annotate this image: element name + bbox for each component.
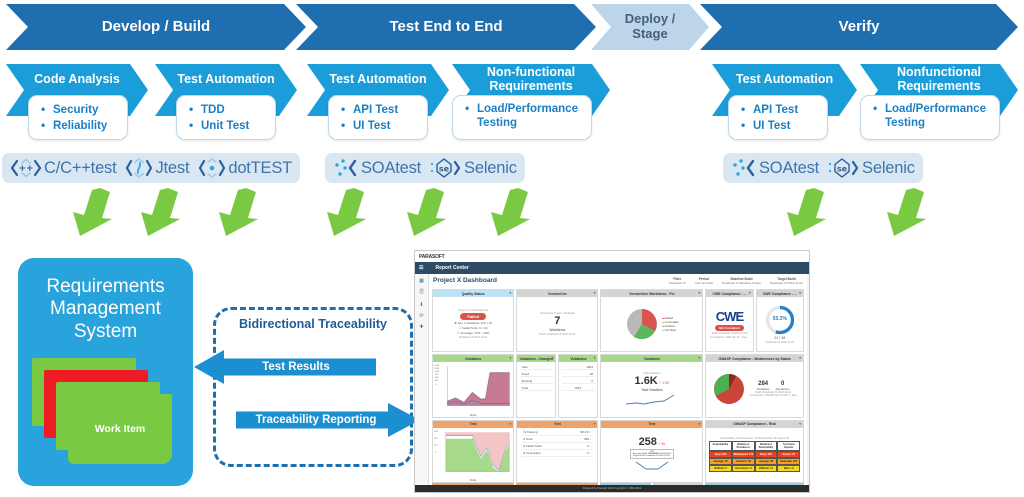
widget-title: VersionOne [548,292,567,296]
widget-title: Violations [644,357,660,361]
test-results-arrow[interactable]: Test Results [194,350,376,384]
widget-header: Violations ▾ [433,355,513,362]
table-row: % Passing 98.1% ↑ [521,430,593,436]
violations-trend-chart [435,364,511,414]
widget-header: VersionOne ▾ [517,290,597,297]
metric-value: 258 [639,437,657,448]
svg-text:se: se [439,165,450,174]
risk-header: Technical Impacts [777,441,800,451]
bullet-item: Load/Performance Testing [871,102,991,131]
status-badge: Failed [460,313,486,320]
pipeline-stage-test-end-to-end[interactable]: Test End to End [296,4,596,50]
pipeline-stage-label: Deploy /Stage [625,12,676,41]
widget-total-violations[interactable]: Violations ▾ Total Violations 1.6K ↑ 1.5… [600,354,703,417]
widget-header: CWE Compliance - ... ▾ [706,290,752,297]
metric-caption: Total Violations [641,388,662,392]
test-trend-chart [435,430,511,480]
owasp-risk-table: Exploitability Weakness Prevalence Weakn… [709,441,800,472]
widget-header: OWASP Compliance - Weaknesses by Status … [706,355,803,362]
widget-header: OWASP Compliance - Risk ▾ [706,421,803,428]
metric-value: 1.6K [635,376,658,387]
pipeline-stage-label: Verify [839,19,880,36]
chevron-bracket-j-icon [125,157,153,179]
bullet-item: Unit Test [187,118,267,134]
down-arrow-icon: ↓ [590,437,592,441]
pipeline-stage-deploy-stage[interactable]: Deploy /Stage [591,4,709,50]
meta-target-build: Target Build Parabank v5 2019-12-04 [770,277,803,285]
widget-body: Image 1: All (Parabank All) Failed ✖Sev.… [433,297,513,351]
product-name: SOAtest [759,159,819,178]
flow-arrow-7 [780,188,826,236]
risk-cell: Average: 48 [755,458,778,465]
svg-text:++: ++ [18,164,33,174]
down-left-arrow-icon [320,188,366,236]
widget-title: OWASP Compliance - Risk [733,422,776,426]
gauge-ratio: 21 / 38 [774,336,785,340]
product-name: SOAtest [361,159,421,178]
down-left-arrow-icon [484,188,530,236]
meta-filter: Filter Parabank v5 [669,277,686,285]
report-center-dashboard-screenshot[interactable]: PARASOFT ☰ Report Center ▦ 🗎 ⬇ ⟳ ✚ Proje… [414,250,810,493]
activity-title: Test Automation [155,72,297,86]
widget-header: Test ▾ [517,421,597,428]
legend-passed: ▬ Passed [662,325,679,328]
widget-violations-changed[interactable]: Violations - Changed ▾ New Fixed Existin… [516,354,556,417]
widget-title: Test [554,422,561,426]
dashboard-body: Project X Dashboard Filter Parabank v5 P… [429,274,807,485]
widget-owasp-weaknesses-by-status[interactable]: OWASP Compliance - Weaknesses by Status … [705,354,804,417]
metric-row: 1.6K ↑ 1.5K [635,376,670,387]
down-left-arrow-icon [880,188,926,236]
pipeline-stage-label: Develop / Build [102,19,210,36]
nav-title: Report Center [435,265,468,271]
widget-cwe-compliance-gauge[interactable]: CWE Compliance - ... ▾ 55.3% 21 / 38 Par… [756,289,804,352]
widget-footnote2: Compliance: CWE Top 25 - Cwe... [710,336,749,339]
test-sparkline [632,460,672,472]
widget-cwe-compliance-logo[interactable]: CWE Compliance - ... ▾ CWE Not Compliant… [705,289,753,352]
widget-menu-icon[interactable]: ▾ [509,422,511,426]
work-item-label: Work Item [95,423,146,435]
product-name: Jtest [155,159,189,178]
risk-cell: Difficult: 3 [709,465,732,472]
bidirectional-traceability-group: Bidirectional Traceability Test Results … [213,307,413,467]
dots-chevron-icon [731,157,757,179]
activity-title: Code Analysis [6,72,148,86]
activity-card-non-functional-requirements: Load/Performance Testing [452,95,592,140]
table-row: Fixed [520,371,553,377]
widget-title: Test [470,422,477,426]
widget-menu-icon[interactable]: ▾ [699,291,701,295]
versionone-pie-chart [625,307,659,341]
parasoft-logo: PARASOFT [419,254,445,260]
table-row: Total [520,385,553,391]
bullet-item: Reliability [39,118,119,134]
widget-body: % Passing 98.1% ↑ # Tests 258 ↓ # Failed… [517,428,597,482]
product-logo-strip-test: SOAtest se Selenic [325,153,525,183]
quality-line-3: ✔Coverage: 47% > 20% [457,331,489,335]
table-row: # Tests 258 ↓ [521,437,593,443]
pipeline-stage-label: Test End to End [389,19,502,36]
widget-grid: Quality Status ▾ Image 1: All (Parabank … [432,289,804,483]
traceability-reporting-arrow[interactable]: Traceability Reporting [236,403,420,437]
flow-arrow-4 [320,188,366,236]
metric-value: 7 [554,316,560,327]
test-results-label: Test Results [262,361,330,373]
widget-header: CWE Compliance - ... ▾ [757,290,803,297]
product-logo-soatest[interactable]: SOAtest [333,157,421,179]
widget-body: Exploitability: All Prevalence: All Dete… [706,428,803,482]
widget-body: New Fixed Existing Total [517,362,555,416]
widget-body: 1993 48 0 1993↑ [559,362,597,416]
activity-title: Test Automation [307,72,449,86]
work-item-stack: Work Item [32,358,180,470]
meta-value: Parabank v5 2019-12-04 [770,281,803,285]
widget-menu-icon[interactable]: ▾ [799,356,801,360]
product-logo-jtest[interactable]: Jtest [125,157,189,179]
dashboard-icon[interactable]: ▦ [419,278,424,284]
meta-value: Parabank v5 Baseline Param [722,281,761,285]
pass-icon: ✔ [459,326,461,330]
widget-body: 55.3% 21 / 38 Parabank v5 2019-12-04 [757,297,803,351]
y-axis-ticks: 304 228 152 0 [434,431,437,454]
table-row: 0 [562,378,595,384]
download-icon[interactable]: ⬇ [419,302,423,308]
widget-owasp-compliance-risk[interactable]: OWASP Compliance - Risk ▾ Exploitability… [705,420,804,483]
table-row: 48 [562,371,595,377]
dashboard-footer: Powered by Parasoft 2019 Copyright © 199… [415,485,809,492]
down-left-arrow-icon [212,188,258,236]
widget-footnote: Build: Parabank v5 2019-12-04 [712,332,748,335]
widget-title: Violations [570,357,586,361]
meta-value: Last 10 builds [695,281,714,285]
activity-card-test-automation-2: API Test UI Test [328,95,428,140]
x-axis-label: Builds [433,414,513,417]
widget-title: CWE Compliance - ... [763,292,797,296]
widget-menu-icon[interactable]: ▾ [699,422,701,426]
activity-card-code-analysis: Security Reliability [28,95,128,140]
widget-body: VersionOne Project: Parabank 7 Workitems… [517,297,597,351]
widget-header: Violations ▾ [559,355,597,362]
product-logo-strip-verify: SOAtest se Selenic [723,153,923,183]
widget-title: Violations - Changed [519,357,553,361]
flow-arrow-3 [212,188,258,236]
table-row: New [520,364,553,370]
owasp-stat-row: 284 Violations 0 Deviations [757,381,790,391]
widget-menu-icon[interactable]: ▾ [749,291,751,295]
widget-title: Quality Status [462,292,485,296]
cwe-logo: CWE [716,309,743,324]
bullet-item: UI Test [339,118,419,134]
table-row: # Failed Tests 0 ↓ [521,444,593,450]
widget-menu-icon[interactable]: ▾ [699,356,701,360]
widget-title: Violations [465,357,481,361]
owasp-stats: 284 Violations 0 Deviations Build: Parab… [749,381,796,397]
stack-sheet-work-item[interactable]: Work Item [68,394,172,464]
widget-quality-status[interactable]: Quality Status ▾ Image 1: All (Parabank … [432,289,514,352]
quality-line-1: ✖Sev. 1 Violations: 272 > 10 [454,321,492,325]
dashboard-sidebar[interactable]: ▦ 🗎 ⬇ ⟳ ✚ [415,274,429,485]
down-left-arrow-icon [400,188,446,236]
activity-card-test-automation-1: TDD Unit Test [176,95,276,140]
flow-arrow-6 [484,188,530,236]
down-left-arrow-icon [780,188,826,236]
risk-header: Weakness Detectability [755,441,778,451]
cwe-widget-pair: CWE Compliance - ... ▾ CWE Not Compliant… [705,289,804,352]
traceability-reporting-label: Traceability Reporting [256,414,377,426]
metric-delta: 1.5K [662,381,669,385]
widget-versionone-pie[interactable]: VersionOne Workitems - Pie ▾ ▬ Failed ▬ … [600,289,703,352]
activity-title: Non-functionalRequirements [452,65,610,93]
up-arrow-icon: ↑ [590,430,592,434]
risk-cell: Common: 52 [732,458,755,465]
table-row: Existing [520,378,553,384]
widget-header: Test ▾ [433,421,513,428]
hamburger-icon[interactable]: ☰ [419,265,423,271]
widget-menu-icon[interactable]: ▾ [594,422,596,426]
risk-header: Weakness Prevalence [732,441,755,451]
report-icon[interactable]: 🗎 [419,289,423,297]
down-arrow-icon: ↓ [658,441,661,447]
up-arrow-icon: ↑ [592,386,594,390]
pipeline-stage-develop-build[interactable]: Develop / Build [6,4,306,50]
product-logo-selenic-verify[interactable]: se Selenic [828,157,915,179]
product-logo-cpptest[interactable]: ++ C/C++test [10,157,116,179]
violations-sparkline [624,393,679,407]
bullet-item: UI Test [739,118,819,134]
widget-footnote: Parabank v5 2019-12-04 [766,341,795,344]
risk-header: Exploitability [709,441,732,451]
rms-title: RequirementsManagementSystem [18,258,193,343]
selenium-se-icon: se [828,157,860,179]
product-logo-selenic[interactable]: se Selenic [430,157,517,179]
chevron-bracket-dot-icon [198,157,226,179]
activity-card-test-automation-3: API Test UI Test [728,95,828,140]
dashboard-navbar[interactable]: ☰ Report Center [415,262,809,274]
svg-text:se: se [837,165,848,174]
table-row: 1993↑ [562,385,595,391]
widget-body: 1,500 1,250 1,000 750 500 250 0 Builds [433,362,513,416]
widget-header: Violations ▾ [601,355,702,362]
dashboard-topbar: PARASOFT [415,251,809,262]
widget-menu-icon[interactable]: ▾ [509,356,511,360]
risk-cell: Minor: 0 [777,465,800,472]
activity-title: NonfunctionalRequirements [860,65,1018,93]
bullet-item: Load/Performance Testing [463,102,583,131]
add-icon[interactable]: ✚ [419,324,423,330]
widget-subtitle: Exploitability: All Prevalence: All Dete… [721,437,789,440]
pipeline-stage-verify[interactable]: Verify [700,4,1018,50]
risk-cell: Difficult: 41 [755,465,778,472]
widget-menu-icon[interactable]: ▾ [799,291,801,295]
dots-chevron-icon [333,157,359,179]
widget-footnote2: Compliance: OWASP Top 10 2017 - Java [749,394,796,397]
risk-cell: Easy: 203 [755,451,778,458]
widget-body: 304 228 152 0 Builds [433,428,513,482]
compliance-gauge: 55.3% [765,305,795,335]
legend-failed: ▬ Failed [662,317,679,320]
deviations-stat: 0 Deviations [776,381,790,391]
status-badge: Not Compliant [715,325,744,331]
metric-caption: Workitems [549,328,565,332]
widget-menu-icon[interactable]: ▾ [594,291,596,295]
widget-title: VersionOne Workitems - Pie [629,292,674,296]
pie-legend: ▬ Failed ▬ Incomplete ▬ Passed ▬ No Test… [662,317,679,332]
meta-baseline-build: Baseline Build Parabank v5 Baseline Para… [722,277,761,285]
up-arrow-icon: ↑ [659,380,662,386]
product-logo-soatest-verify[interactable]: SOAtest [731,157,819,179]
flow-arrow-1 [66,188,112,236]
metric-row: 258 ↓ 96 [639,437,666,448]
product-name: dotTEST [228,159,292,178]
widget-body: ▬ Failed ▬ Incomplete ▬ Passed ▬ No Test… [601,297,702,351]
bullet-item: Security [39,102,119,118]
product-name: Selenic [862,159,915,178]
widget-header: Test ▾ [601,421,702,428]
widget-menu-icon[interactable]: ▾ [509,291,511,295]
widget-body: 284 Violations 0 Deviations Build: Parab… [706,362,803,416]
widget-title: CWE Compliance - ... [713,292,747,296]
flow-arrow-5 [400,188,446,236]
widget-test-count-delta[interactable]: Test ▾ 258 ↓ 96 258 Baseline Build: PARA… [600,420,703,483]
bullet-item: TDD [187,102,267,118]
widget-test-area-chart[interactable]: Test ▾ 304 228 152 0 [432,420,514,483]
legend-incomplete: ▬ Incomplete [662,321,679,324]
fail-icon: ✖ [454,321,456,325]
widget-header: Violations - Changed ▾ [517,355,555,362]
legend-no-tests: ▬ No Tests [662,329,679,332]
risk-cell: Moderate: 187 [777,458,800,465]
dashboard-meta: Filter Parabank v5 Period Last 10 builds… [669,277,803,285]
meta-period: Period Last 10 builds [695,277,714,285]
risk-cell: Widespread: 172 [732,451,755,458]
violations-stat: 284 Violations [757,381,770,391]
pass-icon: ✔ [457,331,459,335]
risk-cell: Easy: 203 [709,451,732,458]
down-arrow-icon: ↓ [590,451,592,455]
widget-footnote: Build: Parabank v5 2019-12-04 [539,333,575,336]
widget-body: 258 ↓ 96 258 Baseline Build: PARABANK-20… [601,428,702,482]
bullet-item: API Test [339,102,419,118]
flow-arrow-2 [134,188,180,236]
widget-subtitle: Image 1: All (Parabank All) [458,309,489,312]
widget-versionone-count[interactable]: VersionOne ▾ VersionOne Project: Paraban… [516,289,598,352]
table-row: # Incomplete 0 ↓ [521,451,593,457]
activity-title: Test Automation [712,72,857,86]
product-logo-strip-dev: ++ C/C++test Jtest dotTEST [2,153,300,183]
table-row: 1993 [562,364,595,370]
risk-cell: Average: 78 [709,458,732,465]
widget-title: OWASP Compliance - Weaknesses by Status [719,357,791,361]
widget-footnote: Parabank v5 2019-12-04 [459,336,488,339]
widget-title: Test [649,422,656,426]
chart-tooltip: 258 Baseline Build: PARABANK-2019-0607 T… [630,449,674,459]
owasp-pie-chart [712,372,746,406]
product-name: Selenic [464,159,517,178]
product-name: C/C++test [44,159,116,178]
widget-menu-icon[interactable]: ▾ [552,356,554,360]
activity-card-nonfunctional-requirements: Load/Performance Testing [860,95,1000,140]
down-left-arrow-icon [66,188,112,236]
widget-header: Quality Status ▾ [433,290,513,297]
risk-cell: Uncommon: 3 [732,465,755,472]
traceability-label: Bidirectional Traceability [216,310,410,331]
widget-menu-icon[interactable]: ▾ [594,356,596,360]
widget-header: VersionOne Workitems - Pie ▾ [601,290,702,297]
quality-line-2: ✔Failed Tests: 0 > 10 [459,326,488,330]
widget-violations-counts[interactable]: Violations ▾ 1993 48 0 1993↑ [558,354,598,417]
bullet-item: API Test [739,102,819,118]
widget-body: Total Violations 1.6K ↑ 1.5K Total Viola… [601,362,702,416]
widget-menu-icon[interactable]: ▾ [799,422,801,426]
gauge-value: 55.3% [765,316,795,322]
metric-delta: 96 [661,442,665,446]
requirements-management-system-box[interactable]: RequirementsManagementSystem Work Item [18,258,193,486]
widget-test-stats[interactable]: Test ▾ % Passing 98.1% ↑ # Tests 258 ↓ #… [516,420,598,483]
flow-arrow-8 [880,188,926,236]
violations-pair: Violations - Changed ▾ New Fixed Existin… [516,354,598,417]
y-axis-ticks: 1,500 1,250 1,000 750 500 250 0 [434,365,439,386]
down-left-arrow-icon [134,188,180,236]
widget-violations-area-chart[interactable]: Violations ▾ 1,500 1,250 1,000 750 [432,354,514,417]
widget-body: CWE Not Compliant Build: Parabank v5 201… [706,297,752,351]
chevron-bracket-plus-icon: ++ [10,157,42,179]
product-logo-dottest[interactable]: dotTEST [198,157,292,179]
meta-value: Parabank v5 [669,281,686,285]
risk-cell: Severe: 87 [777,451,800,458]
refresh-icon[interactable]: ⟳ [419,313,423,319]
down-arrow-icon: ↓ [590,444,592,448]
selenium-se-icon: se [430,157,462,179]
x-axis-label: Builds [433,479,513,482]
